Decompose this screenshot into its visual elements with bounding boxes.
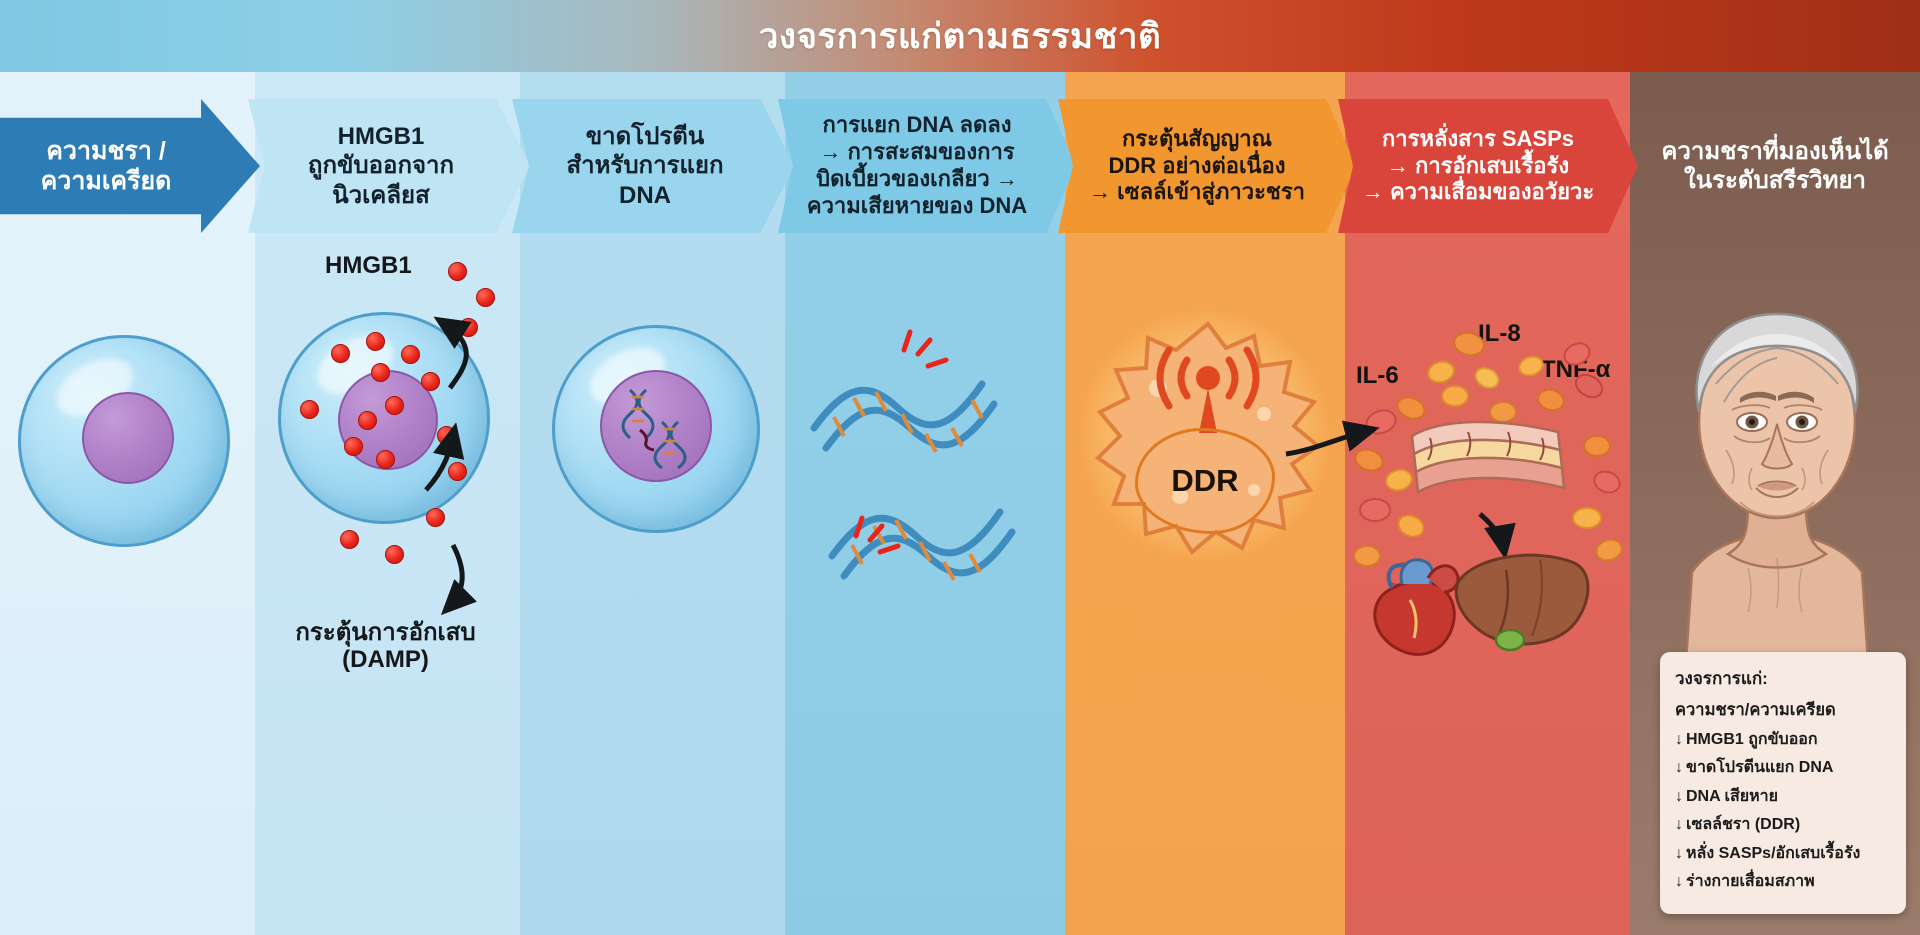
stage-banner-3-line-1: ขาดโปรตีน — [566, 122, 723, 151]
stage-banner-4: การแยก DNA ลดลง → การสะสมของการ บิดเบี้ย… — [778, 99, 1076, 233]
stage-banner-1-line-1: ความชรา / — [41, 136, 172, 167]
stage-banner-5-line-2: DDR อย่างต่อเนื่อง — [1089, 153, 1305, 180]
ddr-label: DDR — [1171, 463, 1238, 499]
stage-banner-5: กระตุ้นสัญญาณ DDR อย่างต่อเนื่อง → เซลล์… — [1058, 99, 1356, 233]
stage-banner-4-line-1: การแยก DNA ลดลง — [807, 112, 1027, 139]
damaged-dna-illustration — [806, 288, 1056, 588]
legend-first-line: ความชรา/ความเครียด — [1675, 697, 1893, 723]
legend-list: ↓HMGB1 ถูกขับออก ↓ขาดโปรตีนแยก DNA ↓DNA … — [1675, 727, 1893, 895]
header-band: วงจรการแก่ตามธรรมชาติ — [0, 0, 1920, 72]
ddr-nucleus: DDR — [1135, 428, 1275, 534]
legend-title: วงจรการแก่: — [1675, 665, 1893, 692]
stage-banner-6-line-3: → ความเสื่อมของอวัยวะ — [1362, 179, 1594, 206]
hmgb1-release-arrows — [278, 290, 528, 630]
stage-banner-4-line-3: บิดเบี้ยวของเกลียว → — [807, 166, 1027, 193]
legend-item: ↓เซลล์ชรา (DDR) — [1675, 812, 1893, 837]
legend-item-label: เซลล์ชรา (DDR) — [1686, 816, 1800, 833]
stage-banner-6: การหลั่งสาร SASPs → การอักเสบเรื้อรัง → … — [1338, 99, 1638, 233]
stage-banner-3-line-2: สำหรับการแยก — [566, 151, 723, 180]
legend-item-label: ร่างกายเสื่อมสภาพ — [1686, 873, 1815, 890]
stage-banner-5-line-3: → เซลล์เข้าสู่ภาวะชรา — [1089, 179, 1305, 206]
legend-item-label: DNA เสียหาย — [1686, 788, 1778, 805]
stage-banner-7-line-1: ความชราที่มองเห็นได้ — [1661, 137, 1888, 166]
stage-banner-2: HMGB1 ถูกขับออกจาก นิวเคลียส — [248, 99, 530, 233]
hmgb1-label: HMGB1 — [325, 252, 412, 280]
stage-banner-3-line-3: DNA — [566, 181, 723, 210]
hmgb1-molecule-dot — [448, 262, 467, 281]
stage-banner-7-line-2: ในระดับสรีรวิทยา — [1661, 166, 1888, 195]
page-title: วงจรการแก่ตามธรรมชาติ — [759, 9, 1162, 64]
stage-banner-2-line-1: HMGB1 — [308, 122, 454, 151]
legend-item: ↓ขาดโปรตีนแยก DNA — [1675, 755, 1893, 780]
tangled-dna-icon — [600, 370, 712, 482]
down-arrow-icon: ↓ — [1675, 759, 1683, 776]
stage-banner-1-line-2: ความเครียด — [41, 166, 172, 197]
aging-cycle-legend: วงจรการแก่: ความชรา/ความเครียด ↓HMGB1 ถู… — [1660, 652, 1906, 914]
legend-item: ↓HMGB1 ถูกขับออก — [1675, 727, 1893, 752]
stage-banner-7: ความชราที่มองเห็นได้ ในระดับสรีรวิทยา — [1634, 99, 1920, 233]
legend-item-label: ขาดโปรตีนแยก DNA — [1686, 759, 1833, 776]
stage-banner-6-line-2: → การอักเสบเรื้อรัง — [1362, 153, 1594, 180]
stage-banner-4-line-2: → การสะสมของการ — [807, 139, 1027, 166]
stage-banner-3: ขาดโปรตีน สำหรับการแยก DNA — [512, 99, 794, 233]
liver-organ-illustration — [1448, 540, 1598, 660]
legend-item-label: HMGB1 ถูกขับออก — [1686, 731, 1818, 748]
legend-item-label: หลั่ง SASPs/อักเสบเรื้อรัง — [1686, 845, 1860, 862]
down-arrow-icon: ↓ — [1675, 845, 1683, 862]
stage-banner-2-line-2: ถูกขับออกจาก — [308, 151, 454, 180]
down-arrow-icon: ↓ — [1675, 873, 1683, 890]
down-arrow-icon: ↓ — [1675, 731, 1683, 748]
elderly-face-illustration — [1652, 272, 1902, 662]
stage-banner-5-line-1: กระตุ้นสัญญาณ — [1089, 126, 1305, 153]
down-arrow-icon: ↓ — [1675, 816, 1683, 833]
infographic-canvas: วงจรการแก่ตามธรรมชาติ ความชรา / ความเครี… — [0, 0, 1920, 935]
stage-banner-4-line-4: ความเสียหายของ DNA — [807, 193, 1027, 220]
tissue-layers-illustration — [1408, 408, 1568, 500]
healthy-cell-nucleus — [82, 392, 174, 484]
legend-item: ↓หลั่ง SASPs/อักเสบเรื้อรัง — [1675, 841, 1893, 866]
sasp-flow-arrow — [1280, 410, 1400, 480]
down-arrow-icon: ↓ — [1675, 788, 1683, 805]
stage-banner-6-line-1: การหลั่งสาร SASPs — [1362, 126, 1594, 153]
legend-item: ↓DNA เสียหาย — [1675, 784, 1893, 809]
stage-banner-2-line-3: นิวเคลียส — [308, 181, 454, 210]
legend-item: ↓ร่างกายเสื่อมสภาพ — [1675, 869, 1893, 894]
damp-label-line-2: (DAMP) — [283, 646, 488, 674]
